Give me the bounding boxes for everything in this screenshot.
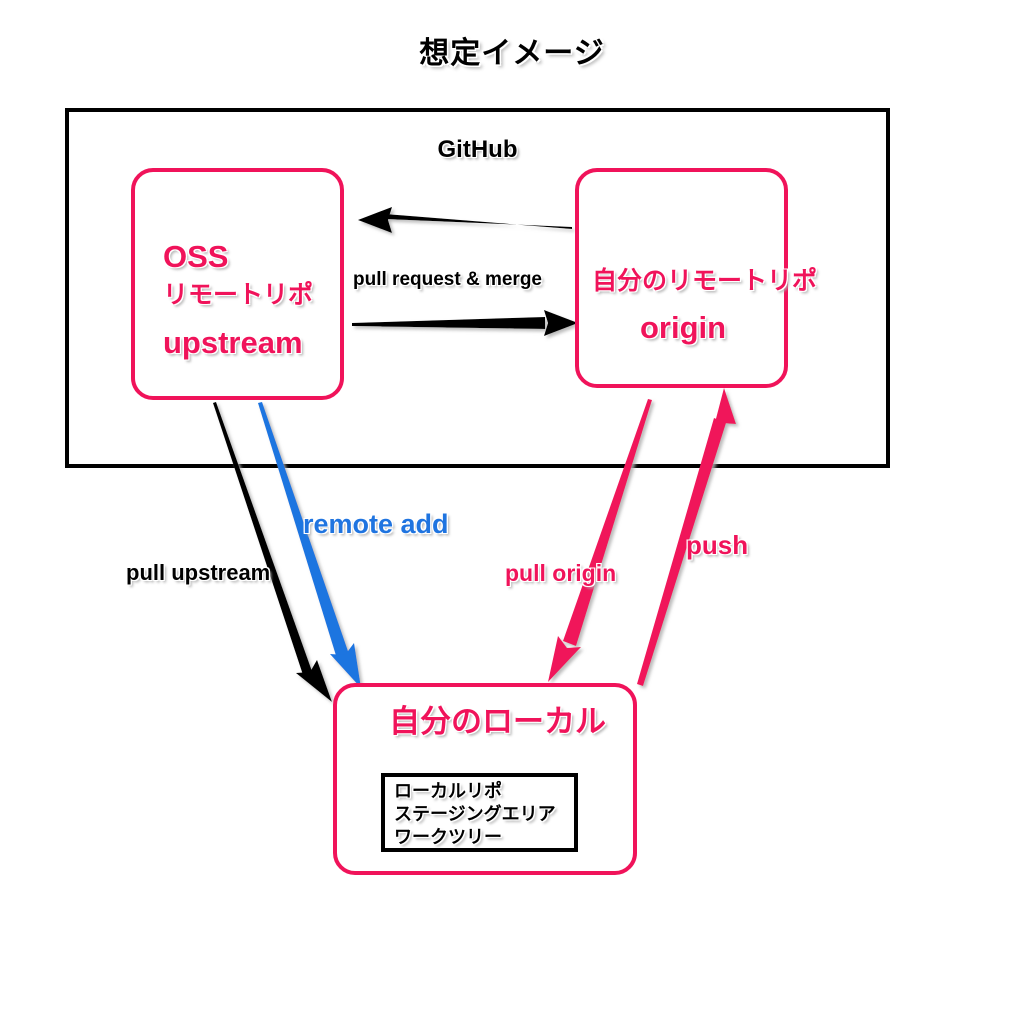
edge-label-pull-origin: pull origin	[505, 560, 616, 587]
box-upstream-line2: リモートリポ	[163, 275, 313, 311]
box-origin-line2: origin	[640, 310, 726, 346]
page-title: 想定イメージ	[0, 28, 1024, 72]
list-item: ワークツリー	[394, 826, 556, 849]
edge-label-pull-upstream: pull upstream	[126, 560, 270, 586]
box-upstream-line1: OSS	[163, 239, 228, 275]
box-origin-line1: 自分のリモートリポ	[592, 261, 817, 297]
box-local-title: 自分のローカル	[389, 696, 606, 741]
edge-label-remote-add: remote add	[303, 509, 449, 540]
box-local-inner-list: ローカルリポ ステージングエリア ワークツリー	[394, 780, 556, 849]
edge-label-pull-request-merge: pull request & merge	[353, 269, 542, 291]
github-label: GitHub	[65, 136, 890, 164]
diagram-canvas: 想定イメージ GitHub	[0, 0, 1024, 1024]
box-upstream-line3: upstream	[163, 325, 303, 361]
list-item: ステージングエリア	[394, 803, 556, 826]
list-item: ローカルリポ	[394, 780, 556, 803]
edge-label-push: push	[686, 530, 748, 561]
